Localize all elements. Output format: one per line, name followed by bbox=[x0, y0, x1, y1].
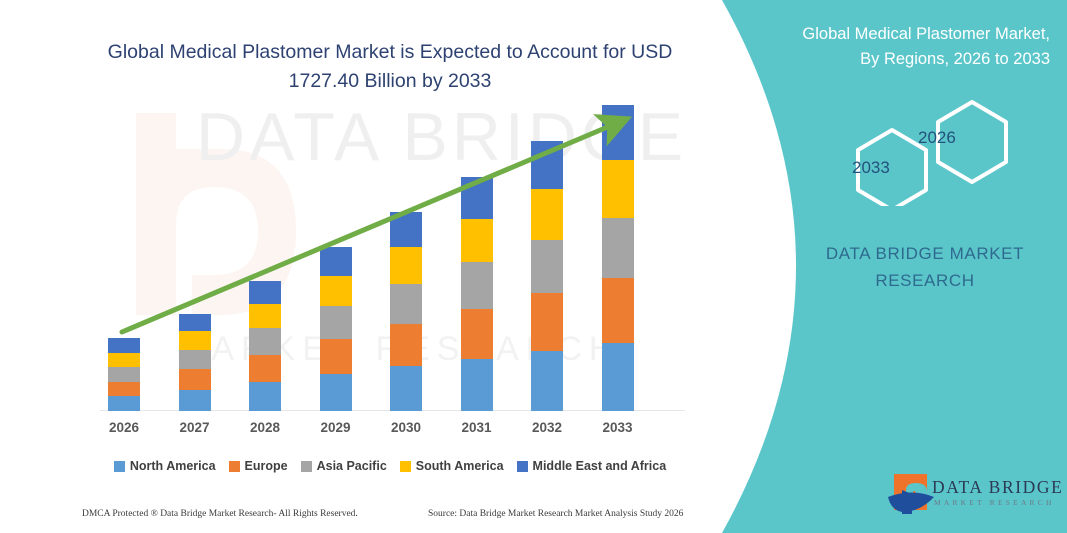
hex-outlines-icon bbox=[820, 96, 1030, 206]
bar-segment bbox=[108, 382, 140, 397]
bar-segment bbox=[390, 212, 422, 247]
legend-swatch-icon bbox=[301, 461, 312, 472]
bar-segment bbox=[602, 218, 634, 278]
bar-segment bbox=[108, 353, 140, 368]
bar-segment bbox=[179, 331, 211, 349]
bar-column-2027 bbox=[179, 314, 211, 411]
bar-segment bbox=[320, 306, 352, 339]
x-axis-tick-2029: 2029 bbox=[306, 420, 366, 435]
chart-panel: DATA BRIDGE MARKET RESEARCH Global Medic… bbox=[0, 0, 760, 533]
bar-segment bbox=[602, 278, 634, 343]
footer-source: Source: Data Bridge Market Research Mark… bbox=[428, 509, 683, 519]
legend-swatch-icon bbox=[229, 461, 240, 472]
bar-segment bbox=[320, 339, 352, 374]
bar-segment bbox=[320, 247, 352, 276]
bar-column-2033 bbox=[602, 105, 634, 411]
x-axis-labels: 20262027202820292030203120322033 bbox=[90, 420, 690, 442]
bar-segment bbox=[461, 262, 493, 309]
footer: DMCA Protected ® Data Bridge Market Rese… bbox=[0, 505, 760, 529]
legend-item[interactable]: Asia Pacific bbox=[301, 459, 387, 473]
panel-title-line-2: By Regions, 2026 to 2033 bbox=[860, 50, 1050, 68]
legend-item[interactable]: South America bbox=[400, 459, 504, 473]
bar-segment bbox=[249, 281, 281, 304]
bar-segment bbox=[602, 343, 634, 411]
bar-column-2026 bbox=[108, 338, 140, 411]
x-axis-tick-2026: 2026 bbox=[94, 420, 154, 435]
bar-segment bbox=[531, 351, 563, 411]
chart-legend: North AmericaEuropeAsia PacificSouth Ame… bbox=[90, 455, 690, 477]
chart-title-line-2: 1727.40 Billion by 2033 bbox=[289, 70, 492, 92]
plot-area bbox=[90, 100, 690, 411]
bar-segment bbox=[531, 189, 563, 240]
bar-segment bbox=[531, 240, 563, 293]
bar-column-2032 bbox=[531, 141, 563, 411]
brand-line-1: DATA BRIDGE MARKET bbox=[826, 244, 1024, 263]
bar-segment bbox=[179, 390, 211, 411]
legend-swatch-icon bbox=[114, 461, 125, 472]
bar-series-container bbox=[90, 100, 690, 411]
chart-title: Global Medical Plastomer Market is Expec… bbox=[80, 38, 700, 96]
bar-segment bbox=[179, 350, 211, 369]
legend-item[interactable]: Europe bbox=[229, 459, 288, 473]
logo-tagline: MARKET RESEARCH bbox=[934, 498, 1055, 507]
legend-label: South America bbox=[416, 459, 504, 473]
x-axis-tick-2027: 2027 bbox=[165, 420, 225, 435]
bar-segment bbox=[461, 359, 493, 411]
x-axis-tick-2028: 2028 bbox=[235, 420, 295, 435]
bar-segment bbox=[249, 304, 281, 328]
panel-title-line-1: Global Medical Plastomer Market, bbox=[802, 25, 1050, 43]
infographic-slide: DATA BRIDGE MARKET RESEARCH Global Medic… bbox=[0, 0, 1067, 533]
footer-copyright: DMCA Protected ® Data Bridge Market Rese… bbox=[82, 509, 358, 519]
bar-column-2031 bbox=[461, 177, 493, 411]
legend-item[interactable]: North America bbox=[114, 459, 216, 473]
x-axis-tick-2030: 2030 bbox=[376, 420, 436, 435]
legend-item[interactable]: Middle East and Africa bbox=[517, 459, 667, 473]
bar-segment bbox=[461, 309, 493, 359]
bar-segment bbox=[179, 369, 211, 389]
bar-segment bbox=[108, 396, 140, 411]
bar-segment bbox=[461, 219, 493, 263]
bar-column-2029 bbox=[320, 247, 352, 411]
chart-title-line-1: Global Medical Plastomer Market is Expec… bbox=[108, 41, 673, 63]
legend-swatch-icon bbox=[400, 461, 411, 472]
bar-segment bbox=[390, 366, 422, 411]
bar-segment bbox=[390, 247, 422, 284]
bar-segment bbox=[602, 160, 634, 217]
bar-column-2028 bbox=[249, 281, 281, 411]
hex-badge-label-2026: 2026 bbox=[918, 128, 956, 148]
legend-label: Europe bbox=[245, 459, 288, 473]
bar-segment bbox=[531, 293, 563, 350]
brand-line-2: RESEARCH bbox=[875, 271, 974, 290]
x-axis-tick-2032: 2032 bbox=[517, 420, 577, 435]
x-axis-tick-2031: 2031 bbox=[447, 420, 507, 435]
legend-label: Asia Pacific bbox=[317, 459, 387, 473]
hex-badge-group: 2026 2033 bbox=[820, 96, 1030, 206]
bar-segment bbox=[179, 314, 211, 331]
bar-segment bbox=[461, 177, 493, 219]
bar-segment bbox=[320, 374, 352, 411]
bar-segment bbox=[390, 324, 422, 367]
panel-title: Global Medical Plastomer Market, By Regi… bbox=[740, 22, 1050, 72]
bar-segment bbox=[531, 141, 563, 190]
bar-segment bbox=[249, 355, 281, 382]
hex-badge-label-2033: 2033 bbox=[852, 158, 890, 178]
bar-column-2030 bbox=[390, 212, 422, 411]
legend-label: North America bbox=[130, 459, 216, 473]
legend-label: Middle East and Africa bbox=[533, 459, 667, 473]
legend-swatch-icon bbox=[517, 461, 528, 472]
x-axis-tick-2033: 2033 bbox=[588, 420, 648, 435]
bar-segment bbox=[249, 328, 281, 354]
bar-segment bbox=[390, 284, 422, 324]
logo-wordmark: DATA BRIDGE bbox=[932, 477, 1063, 498]
bar-segment bbox=[108, 367, 140, 382]
bar-segment bbox=[320, 276, 352, 306]
bar-segment bbox=[249, 382, 281, 411]
bar-segment bbox=[108, 338, 140, 353]
bar-segment bbox=[602, 105, 634, 160]
brand-name: DATA BRIDGE MARKET RESEARCH bbox=[800, 240, 1050, 294]
